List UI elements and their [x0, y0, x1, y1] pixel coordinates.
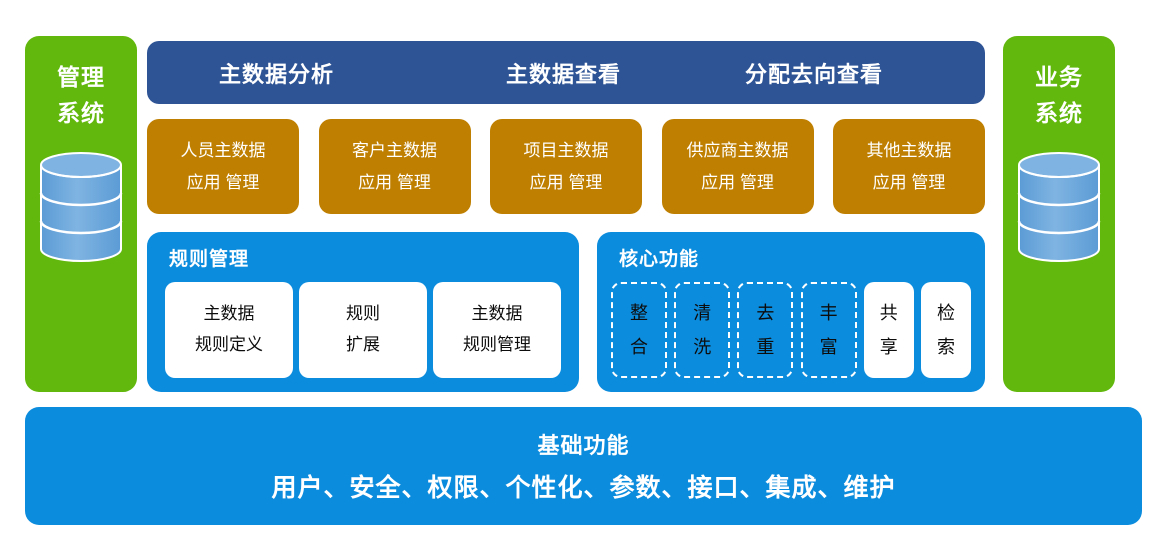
right-system-title-line1: 业务 — [1035, 60, 1083, 96]
base-functions-subtitle: 用户、安全、权限、个性化、参数、接口、集成、维护 — [271, 468, 895, 504]
rules-panel-title: 规则管理 — [169, 244, 249, 271]
card-line-2: 应用 管理 — [873, 167, 946, 198]
right-system-panel: 业务 系统 — [1003, 36, 1115, 392]
base-functions-bar: 基础功能 用户、安全、权限、个性化、参数、接口、集成、维护 — [25, 407, 1142, 525]
rules-management-panel: 规则管理 主数据 规则定义 规则 扩展 主数据 规则管理 — [147, 232, 579, 392]
core-card-share[interactable]: 共 享 — [864, 282, 914, 378]
left-system-title-line1: 管理 — [57, 60, 105, 96]
header-bar: 主数据分析 主数据查看 分配去向查看 — [147, 41, 985, 104]
master-data-card-other[interactable]: 其他主数据 应用 管理 — [833, 119, 985, 214]
card-char-2: 洗 — [693, 330, 711, 364]
card-line-2: 应用 管理 — [358, 167, 431, 198]
card-line-1: 人员主数据 — [181, 135, 266, 166]
master-data-card-project[interactable]: 项目主数据 应用 管理 — [490, 119, 642, 214]
card-line-1: 其他主数据 — [867, 135, 952, 166]
master-data-card-supplier[interactable]: 供应商主数据 应用 管理 — [662, 119, 814, 214]
header-item-analysis[interactable]: 主数据分析 — [219, 57, 334, 89]
base-functions-title: 基础功能 — [537, 428, 629, 460]
card-line-1: 规则 — [346, 299, 380, 330]
card-char-1: 检 — [937, 296, 955, 330]
card-line-2: 应用 管理 — [530, 167, 603, 198]
core-card-integrate[interactable]: 整 合 — [611, 282, 667, 378]
card-char-2: 享 — [880, 330, 898, 364]
card-char-1: 共 — [880, 296, 898, 330]
rules-card-row: 主数据 规则定义 规则 扩展 主数据 规则管理 — [165, 282, 561, 378]
rules-card-management[interactable]: 主数据 规则管理 — [433, 282, 561, 378]
card-line-1: 客户主数据 — [352, 135, 437, 166]
card-line-1: 供应商主数据 — [687, 135, 789, 166]
card-line-2: 应用 管理 — [701, 167, 774, 198]
card-line-1: 主数据 — [204, 299, 255, 330]
core-functions-panel: 核心功能 整 合 清 洗 去 重 丰 富 共 享 检 — [597, 232, 985, 392]
core-card-search[interactable]: 检 索 — [921, 282, 971, 378]
left-system-panel: 管理 系统 — [25, 36, 137, 392]
card-line-1: 主数据 — [472, 299, 523, 330]
card-line-2: 应用 管理 — [187, 167, 260, 198]
rules-card-definition[interactable]: 主数据 规则定义 — [165, 282, 293, 378]
card-char-2: 索 — [937, 330, 955, 364]
core-panel-title: 核心功能 — [619, 244, 699, 271]
card-char-2: 重 — [756, 330, 774, 364]
card-line-2: 规则管理 — [463, 330, 531, 361]
card-char-2: 合 — [630, 330, 648, 364]
database-cylinder-icon — [35, 151, 127, 263]
card-char-1: 丰 — [820, 296, 838, 330]
core-card-deduplicate[interactable]: 去 重 — [737, 282, 793, 378]
core-card-cleanse[interactable]: 清 洗 — [674, 282, 730, 378]
master-data-card-personnel[interactable]: 人员主数据 应用 管理 — [147, 119, 299, 214]
architecture-diagram: 管理 系统 业务 系统 — [0, 0, 1167, 534]
card-char-2: 富 — [820, 330, 838, 364]
left-system-title: 管理 系统 — [57, 60, 105, 131]
card-char-1: 整 — [630, 296, 648, 330]
left-system-title-line2: 系统 — [57, 96, 105, 132]
database-cylinder-icon — [1013, 151, 1105, 263]
card-char-1: 清 — [693, 296, 711, 330]
card-line-1: 项目主数据 — [524, 135, 609, 166]
header-item-view[interactable]: 主数据查看 — [506, 57, 621, 89]
core-card-enrich[interactable]: 丰 富 — [801, 282, 857, 378]
card-char-1: 去 — [756, 296, 774, 330]
header-item-distribution[interactable]: 分配去向查看 — [745, 57, 883, 89]
right-system-title: 业务 系统 — [1035, 60, 1083, 131]
card-line-2: 规则定义 — [195, 330, 263, 361]
master-data-card-customer[interactable]: 客户主数据 应用 管理 — [319, 119, 471, 214]
right-system-title-line2: 系统 — [1035, 96, 1083, 132]
card-line-2: 扩展 — [346, 330, 380, 361]
rules-card-extension[interactable]: 规则 扩展 — [299, 282, 427, 378]
master-data-card-row: 人员主数据 应用 管理 客户主数据 应用 管理 项目主数据 应用 管理 供应商主… — [147, 119, 985, 214]
core-card-row: 整 合 清 洗 去 重 丰 富 共 享 检 索 — [611, 282, 971, 378]
